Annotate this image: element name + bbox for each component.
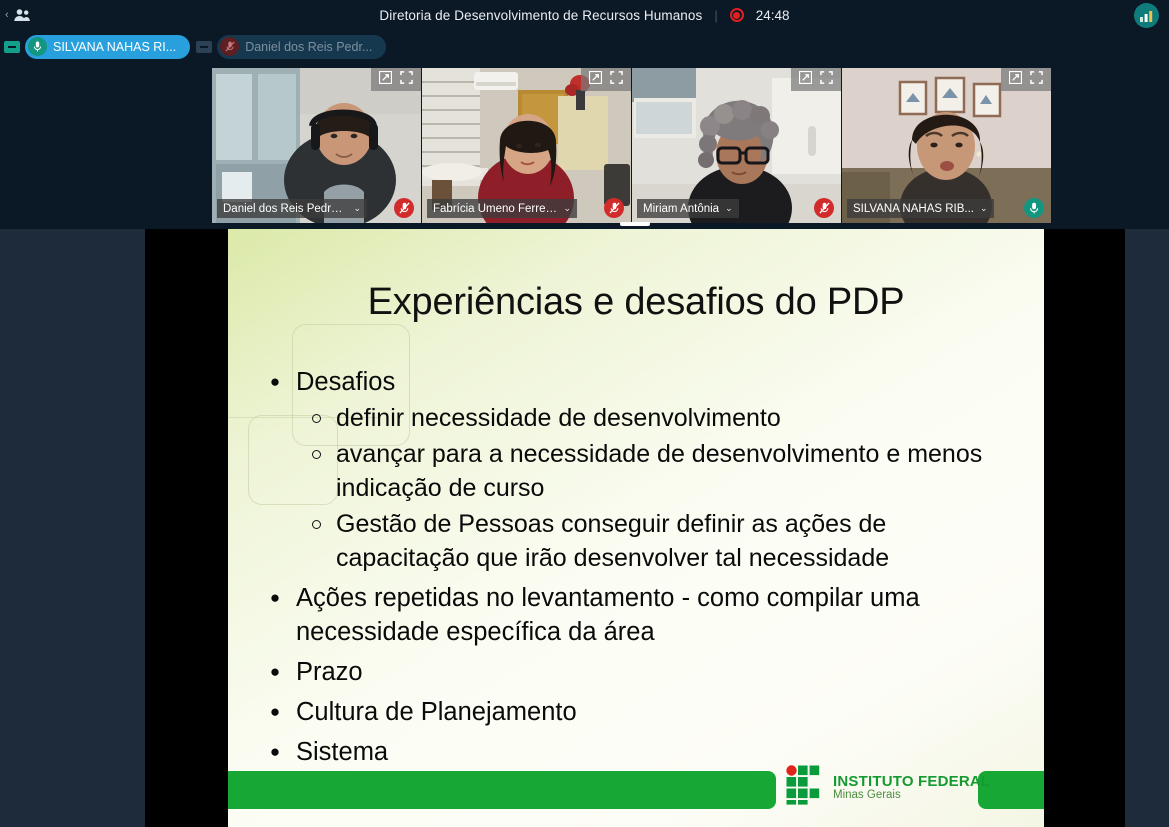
slide-footer-bar-left [228,771,776,809]
bullet-text: Cultura de Planejamento [296,695,577,729]
participant-name: Miriam Antônia [643,203,719,215]
participant-tile-silvana[interactable]: SILVANA NAHAS RIB... ⌄ [842,68,1051,223]
mic-on-icon [28,37,47,56]
bullet-circle-icon [310,401,322,435]
ifmg-logo: INSTITUTO FEDERAL Minas Gerais [786,765,990,810]
fullscreen-icon[interactable] [610,71,623,89]
bullet-text: Desafios [296,365,395,399]
ifmg-title: INSTITUTO FEDERAL [833,774,990,790]
pop-out-icon[interactable] [589,71,602,89]
mic-on-icon[interactable] [1024,198,1044,218]
bullet-item: ● Prazo [268,655,1014,689]
speaker-chip-daniel[interactable]: Daniel dos Reis Pedr... [217,35,386,59]
slide-title: Experiências e desafios do PDP [228,281,1044,324]
mic-off-icon[interactable] [394,198,414,218]
participant-filmstrip: Daniel dos Reis Pedrosa ⌄ [212,68,1051,223]
tile-name-label[interactable]: Fabrícia Umeno Ferreira ⌄ [427,199,577,218]
participant-tile-fabricia[interactable]: Fabrícia Umeno Ferreira ⌄ [422,68,631,223]
participants-toggle[interactable]: ‹ [0,8,31,22]
bullet-text: avançar para a necessidade de desenvolvi… [336,437,1014,505]
chevron-down-icon[interactable]: ⌄ [563,203,571,214]
bullet-circle-icon [310,507,322,541]
mic-off-icon [220,37,239,56]
bullet-text: Ações repetidas no levantamento - como c… [296,581,1014,649]
bullet-item: definir necessidade de desenvolvimento [310,401,1014,435]
fullscreen-icon[interactable] [820,71,833,89]
active-speaker-chips: SILVANA NAHAS RI... Daniel dos Reis Pedr… [0,33,386,60]
pop-out-icon[interactable] [799,71,812,89]
chevron-down-icon[interactable]: ⌄ [725,203,733,214]
video-conference-window: ‹ Diretoria de Desenvolvimento de Recurs… [0,0,1169,827]
mic-off-icon[interactable] [604,198,624,218]
meeting-title: Diretoria de Desenvolvimento de Recursos… [379,8,702,23]
screen-share-icon [196,41,212,53]
tile-controls[interactable] [791,68,841,91]
tile-name-label[interactable]: Miriam Antônia ⌄ [637,199,739,218]
chevron-left-icon[interactable]: ‹ [5,10,9,21]
presentation-slide[interactable]: Experiências e desafios do PDP ● Desafio… [228,229,1044,827]
meeting-info: Diretoria de Desenvolvimento de Recursos… [0,0,1169,30]
people-icon[interactable] [13,8,31,22]
fullscreen-icon[interactable] [1030,71,1043,89]
tile-name-label[interactable]: Daniel dos Reis Pedrosa ⌄ [217,199,367,218]
bullet-circle-icon [310,437,322,471]
record-dot-icon [730,8,744,22]
bullet-item: Gestão de Pessoas conseguir definir as a… [310,507,1014,575]
bullet-item: avançar para a necessidade de desenvolvi… [310,437,1014,505]
chip-group-daniel[interactable]: Daniel dos Reis Pedr... [196,35,386,59]
screen-share-icon [4,41,20,53]
bullet-disc-icon: ● [268,365,282,398]
pop-out-icon[interactable] [1009,71,1022,89]
bullet-item: ● Cultura de Planejamento [268,695,1014,729]
bullet-text: Gestão de Pessoas conseguir definir as a… [336,507,1014,575]
bullet-disc-icon: ● [268,735,282,768]
bullet-item: ● Desafios [268,365,1014,399]
screen-share-stage: Experiências e desafios do PDP ● Desafio… [0,229,1169,827]
bullet-text: Prazo [296,655,363,689]
participant-tile-daniel[interactable]: Daniel dos Reis Pedrosa ⌄ [212,68,421,223]
ifmg-mark-icon [786,765,824,810]
speaker-chip-silvana[interactable]: SILVANA NAHAS RI... [25,35,190,59]
mic-off-icon[interactable] [814,198,834,218]
participant-name: Fabrícia Umeno Ferreira [433,203,557,215]
bullet-item: ● Ações repetidas no levantamento - como… [268,581,1014,649]
chevron-down-icon[interactable]: ⌄ [980,203,988,214]
ifmg-subtitle: Minas Gerais [833,789,990,801]
participant-name: Daniel dos Reis Pedrosa [223,203,347,215]
elapsed-time: 24:48 [756,8,790,23]
bullet-text: definir necessidade de desenvolvimento [336,401,781,435]
chip-group-silvana[interactable]: SILVANA NAHAS RI... [4,35,190,59]
bullet-item: ● Sistema [268,735,1014,769]
tile-controls[interactable] [371,68,421,91]
chevron-down-icon[interactable]: ⌄ [353,203,361,214]
pop-out-icon[interactable] [379,71,392,89]
signal-bars-icon[interactable] [1134,3,1159,28]
bullet-text: Sistema [296,735,388,769]
bullet-disc-icon: ● [268,581,282,614]
ifmg-wordmark: INSTITUTO FEDERAL Minas Gerais [833,774,990,802]
filmstrip-resize-handle[interactable] [620,222,650,226]
top-bar: ‹ Diretoria de Desenvolvimento de Recurs… [0,0,1169,30]
participant-name: SILVANA NAHAS RIB... [853,203,974,215]
bullet-disc-icon: ● [268,655,282,688]
speaker-chip-label: Daniel dos Reis Pedr... [245,40,372,54]
separator: | [714,8,717,23]
bullet-disc-icon: ● [268,695,282,728]
tile-name-label[interactable]: SILVANA NAHAS RIB... ⌄ [847,199,994,218]
fullscreen-icon[interactable] [400,71,413,89]
tile-controls[interactable] [581,68,631,91]
participant-tile-miriam[interactable]: Miriam Antônia ⌄ [632,68,841,223]
speaker-chip-label: SILVANA NAHAS RI... [53,40,176,54]
tile-controls[interactable] [1001,68,1051,91]
slide-bullet-list: ● Desafios definir necessidade de desenv… [268,359,1014,769]
